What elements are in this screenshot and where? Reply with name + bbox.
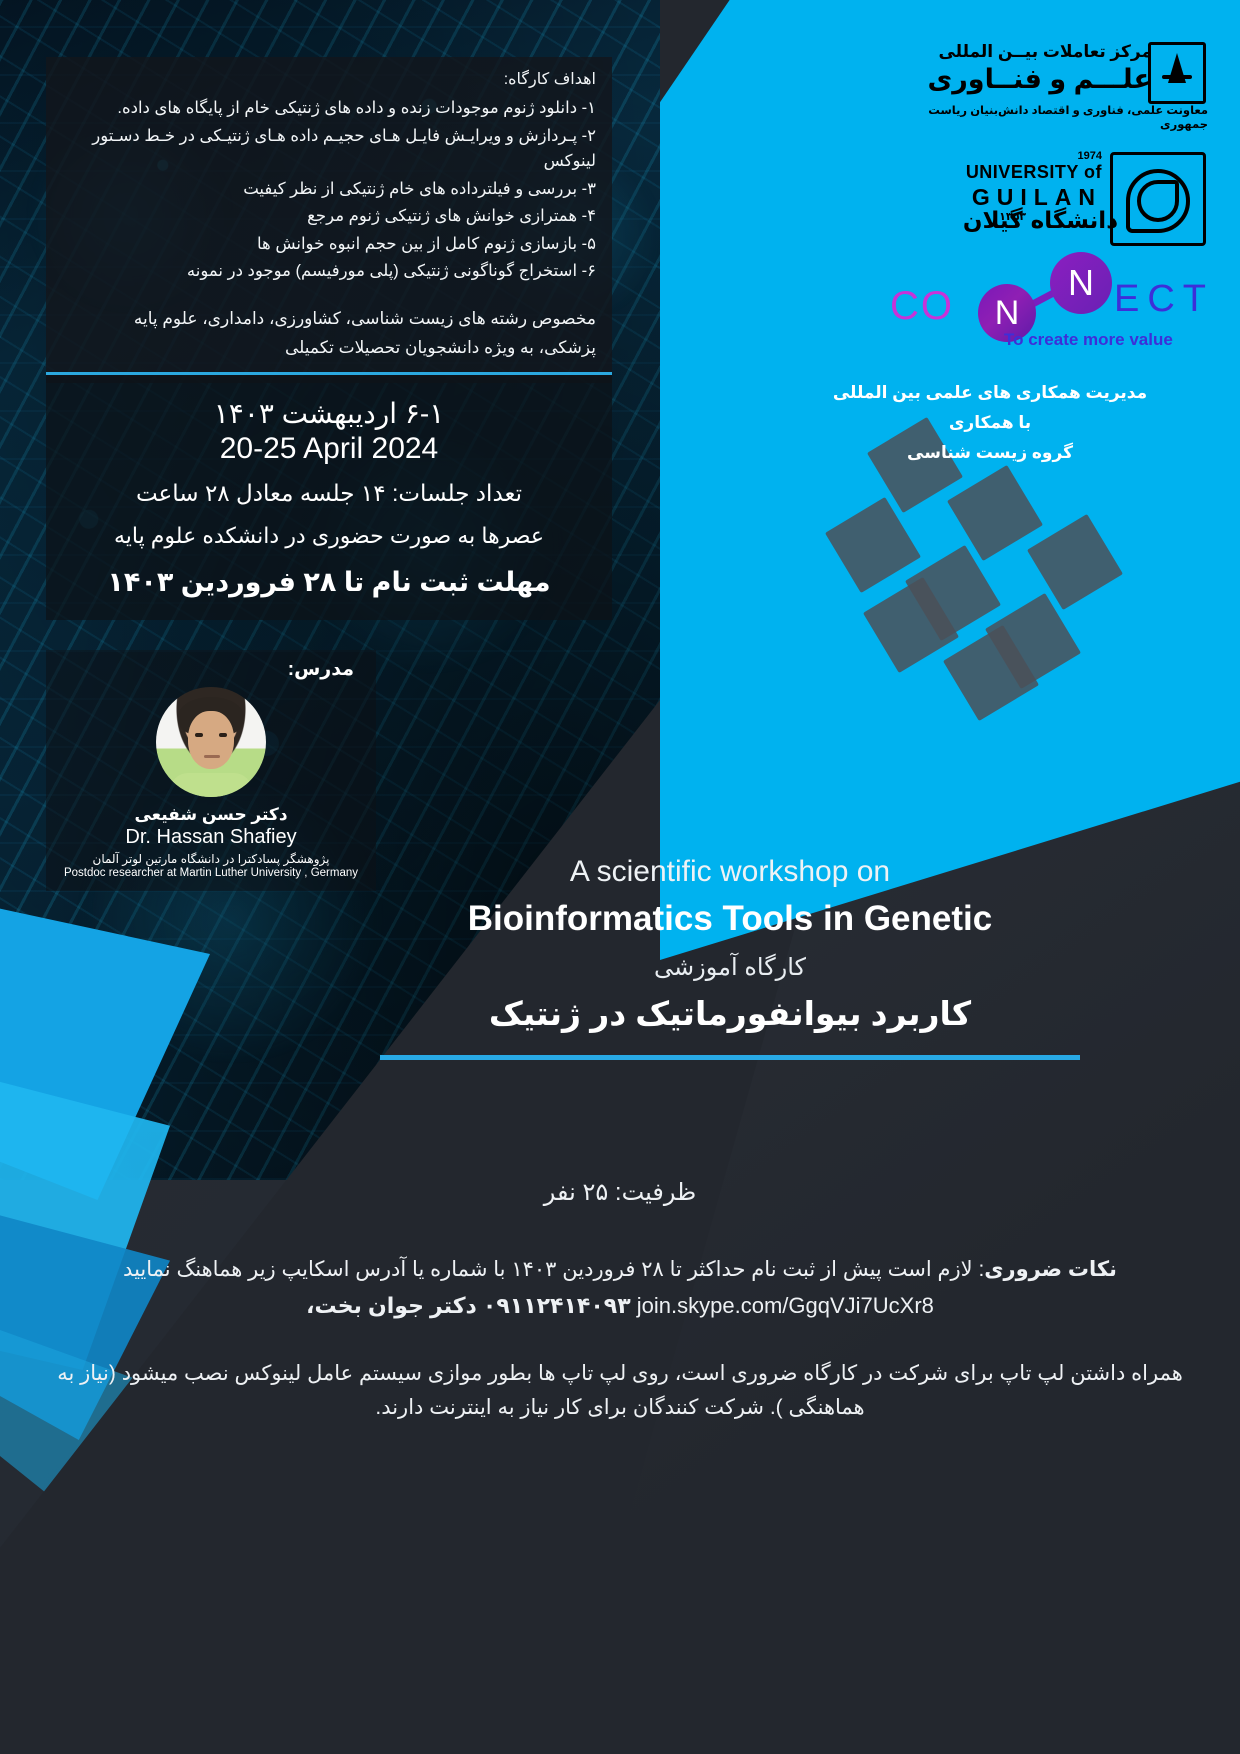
connect-tagline: To create more value [1004,330,1173,350]
important-note-body: : لازم است پیش از ثبت نام حداکثر تا ۲۸ ف… [123,1258,984,1281]
venue-text: عصرها به صورت حضوری در دانشکده علوم پایه [62,523,596,549]
avatar-shirt [170,773,252,797]
avatar-mouth [204,755,220,758]
guilan-name-fa: دانشگاه گیلان [963,208,1118,234]
schedule-panel: ۶-۱ اردیبهشت ۱۴۰۳ 20-25 April 2024 تعداد… [46,372,612,620]
organizers-block: مدیریت همکاری های علمی بین المللی با همک… [780,378,1200,467]
important-note-label: نکات ضروری [984,1258,1117,1281]
guilan-swirl-icon [1110,152,1206,246]
title-en-main: Bioinformatics Tools in Genetic [300,899,1160,939]
guilan-university-word: UNIVERSITY of [966,162,1102,183]
instructor-avatar [156,687,266,797]
avatar-face [188,711,234,769]
title-fa-prefix: کارگاه آموزشی [300,953,1160,982]
list-item: ۱- دانلود ژنوم موجودات زنده و داده های ژ… [62,96,596,122]
university-of-guilan-logo: 1974 UNIVERSITY of GUILAN ۱۳۵۳ دانشگاه گ… [914,150,1214,250]
title-fa-main: کاربرد بیوانفورماتیک در ژنتیک [300,994,1160,1033]
instructor-name-fa: دکتر حسن شفیعی [52,805,370,825]
english-date: 20-25 April 2024 [62,432,596,466]
organizer-line-2: با همکاری [780,408,1200,438]
contact-line: join.skype.com/GgqVJi7UcXr8 ۰۹۱۱۲۴۱۴۰۹۳ … [40,1293,1200,1319]
sessions-count: تعداد جلسات: ۱۴ جلسه معادل ۲۸ ساعت [62,480,596,507]
skype-link[interactable]: join.skype.com/GgqVJi7UcXr8 [637,1293,934,1319]
guilan-name-en: GUILAN [972,184,1102,211]
persian-date: ۶-۱ اردیبهشت ۱۴۰۳ [62,397,596,430]
bottom-info-block: ظرفیت: ۲۵ نفر نکات ضروری: لازم است پیش ا… [40,1178,1200,1426]
list-item: ۴- همترازی خوانش های ژنتیکی ژنوم مرجع [62,204,596,230]
iran-logo-line2: علـــم و فنــاوری [914,64,1152,95]
connect-ect-text: ECT [1114,278,1214,321]
goals-list: ۱- دانلود ژنوم موجودات زنده و داده های ژ… [62,96,596,285]
workshop-goals-panel: اهداف کارگاه: ۱- دانلود ژنوم موجودات زند… [46,57,612,383]
audience-block: مخصوص رشته های زیست شناسی، کشاورزی، دامد… [62,305,596,363]
iran-logo-line3: معاونت علمی، فناوری و اقتصاد دانش‌بنیان … [914,103,1208,131]
title-en-prefix: A scientific workshop on [300,855,1160,889]
instructor-label: مدرس: [52,658,354,681]
connect-co-text: CO [890,284,954,329]
main-title-block: A scientific workshop on Bioinformatics … [300,855,1160,1060]
contact-phone-name: ۰۹۱۱۲۴۱۴۰۹۳ دکتر جوان بخت، [306,1293,631,1318]
organizer-line-1: مدیریت همکاری های علمی بین المللی [780,378,1200,408]
guilan-swirl-inner [1137,180,1179,222]
registration-deadline: مهلت ثبت نام تا ۲۸ فروردین ۱۴۰۳ [62,567,596,598]
list-item: ۲- پـردازش و ویرایـش فایـل هـای حجیـم دا… [62,124,596,175]
iran-tech-center-logo: مرکز تعاملات بیــن المللی علـــم و فنــا… [914,24,1214,144]
goals-heading: اهداف کارگاه: [62,69,596,89]
iran-emblem-icon [1148,42,1206,104]
title-divider [380,1055,1080,1060]
guilan-year-en: 1974 [1078,150,1102,162]
list-item: ۳- بررسی و فیلترداده های خام ژنتیکی از ن… [62,177,596,203]
avatar-eye-left [195,733,203,737]
avatar-eye-right [219,733,227,737]
list-item: ۶- استخراج گوناگونی ژنتیکی (پلی مورفیسم)… [62,259,596,285]
footer-note: همراه داشتن لپ تاپ برای شرکت در کارگاه ض… [40,1357,1200,1426]
connect-atom-icon-2: N [1050,252,1112,314]
poster-canvas: مرکز تعاملات بیــن المللی علـــم و فنــا… [0,0,1240,1754]
important-note: نکات ضروری: لازم است پیش از ثبت نام حداک… [40,1253,1200,1287]
audience-line-2: پزشکی، به ویژه دانشجویان تحصیلات تکمیلی [62,334,596,363]
connect-logo: CO N N ECT To create more value [874,262,1204,372]
organizer-line-3: گروه زیست شناسی [780,438,1200,468]
instructor-name-en: Dr. Hassan Shafiey [52,826,370,849]
list-item: ۵- بازسازی ژنوم کامل از بین حجم انبوه خو… [62,232,596,258]
iran-logo-line1: مرکز تعاملات بیــن المللی [914,42,1152,62]
capacity-text: ظرفیت: ۲۵ نفر [40,1178,1200,1207]
audience-line-1: مخصوص رشته های زیست شناسی، کشاورزی، دامد… [62,305,596,334]
